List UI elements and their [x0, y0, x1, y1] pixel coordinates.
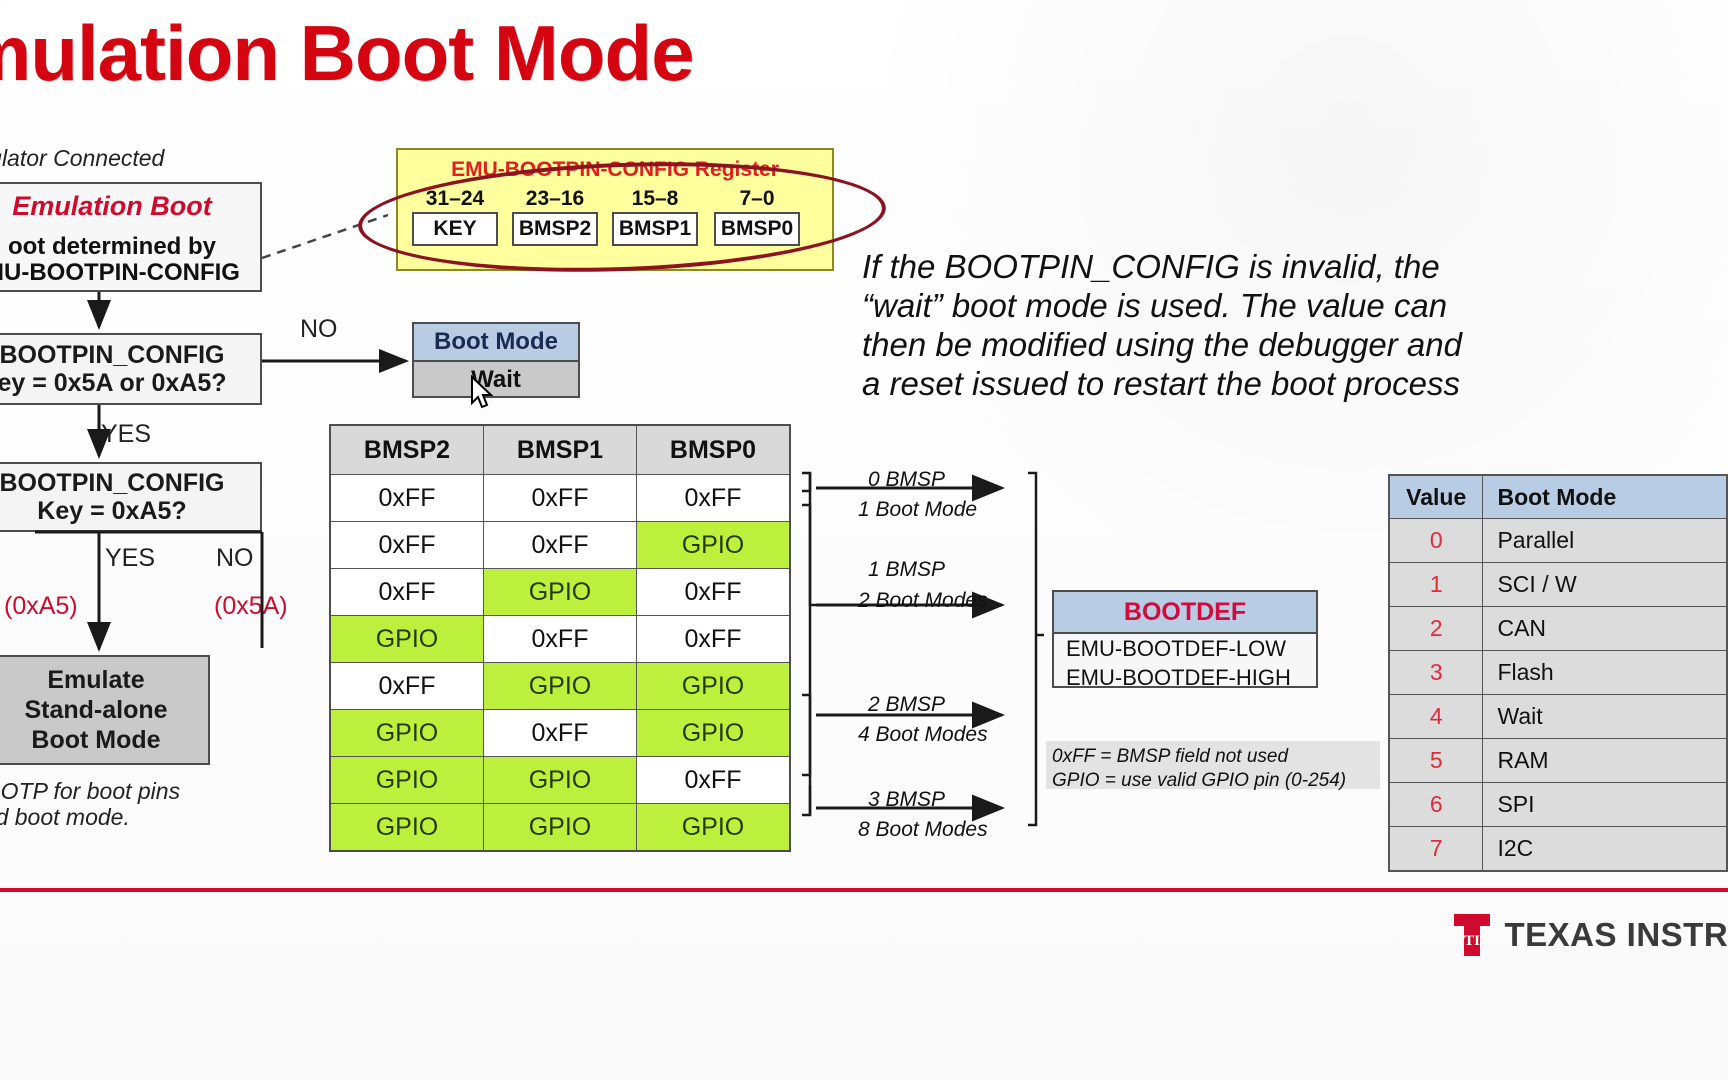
value-cell: 5	[1389, 739, 1483, 783]
bmsp-cell: GPIO	[330, 757, 484, 804]
bootdef-box: BOOTDEF EMU-BOOTDEF-LOW EMU-BOOTDEF-HIGH	[1052, 590, 1318, 688]
arrow-group-0-count: 0 BMSP	[868, 468, 945, 492]
value-cell: 1	[1389, 563, 1483, 607]
arrow-group-3-modes: 8 Boot Modes	[858, 818, 988, 842]
bmsp-cell: GPIO	[484, 757, 637, 804]
q1-line2: ey = 0x5A or 0xA5?	[0, 369, 227, 397]
otp-note: ds OTP for boot pins and boot mode.	[0, 778, 250, 830]
q2-line2: Key = 0xA5?	[37, 497, 186, 525]
bmsp-header-bmsp0: BMSP0	[637, 425, 791, 475]
table-row: 0xFF0xFFGPIO	[330, 522, 790, 569]
ti-mark-icon: TI	[1452, 912, 1492, 958]
boot-mode-cell: I2C	[1483, 827, 1727, 872]
emulation-boot-header: Emulation Boot	[0, 184, 260, 228]
register-bits-7-0: 7–0	[708, 187, 806, 211]
register-field-bmsp0: BMSP0	[714, 212, 800, 246]
emulation-boot-line1: oot determined by	[8, 234, 216, 260]
bootpin-key-a5-question-box: BOOTPIN_CONFIG Key = 0xA5?	[0, 462, 262, 532]
table-row: 7I2C	[1389, 827, 1727, 872]
hex-a5-label: (0xA5)	[4, 592, 78, 621]
table-row: 4Wait	[1389, 695, 1727, 739]
arrow-group-2-modes: 4 Boot Modes	[858, 723, 988, 747]
register-bits-23-16: 23–16	[506, 187, 604, 211]
value-cell: 4	[1389, 695, 1483, 739]
bmsp-cell: 0xFF	[637, 616, 791, 663]
bmsp-cell: 0xFF	[330, 569, 484, 616]
bmsp-header-bmsp2: BMSP2	[330, 425, 484, 475]
register-field-bmsp2: BMSP2	[512, 212, 598, 246]
table-row: GPIO0xFFGPIO	[330, 710, 790, 757]
wait-box-value: Wait	[414, 362, 578, 398]
q2-yes-label: YES	[105, 544, 155, 573]
bmsp-cell: GPIO	[484, 804, 637, 852]
table-row: 0xFFGPIO0xFF	[330, 569, 790, 616]
bmsp-cell: 0xFF	[637, 569, 791, 616]
bootpin-invalid-note: If the BOOTPIN_CONFIG is invalid, the “w…	[862, 248, 1622, 404]
mouse-cursor	[470, 376, 496, 410]
value-cell: 7	[1389, 827, 1483, 872]
bmsp-legend: 0xFF = BMSP field not used GPIO = use va…	[1046, 741, 1380, 789]
table-row: 3Flash	[1389, 651, 1727, 695]
boot-mode-cell: Parallel	[1483, 519, 1727, 563]
legend-line1: 0xFF = BMSP field not used	[1052, 745, 1374, 769]
bmsp-cell: GPIO	[484, 663, 637, 710]
bmsp-cell: 0xFF	[484, 616, 637, 663]
otp-note-line1: ds OTP for boot pins	[0, 778, 250, 804]
bmsp-cell: 0xFF	[484, 710, 637, 757]
table-row: 0xFF0xFF0xFF	[330, 475, 790, 522]
bmsp-cell: 0xFF	[484, 475, 637, 522]
register-bits-15-8: 15–8	[606, 187, 704, 211]
register-field-key: KEY	[412, 212, 498, 246]
emulate-line1: Emulate	[47, 665, 144, 695]
table-row: GPIOGPIOGPIO	[330, 804, 790, 852]
bmsp-cell: 0xFF	[637, 475, 791, 522]
boot-mode-value-table: Value Boot Mode 0Parallel1SCI / W2CAN3Fl…	[1388, 474, 1728, 872]
bmsp-combination-table: BMSP2 BMSP1 BMSP0 0xFF0xFF0xFF0xFF0xFFGP…	[329, 424, 791, 852]
wait-box-header: Boot Mode	[414, 324, 578, 362]
q1-line1: BOOTPIN_CONFIG	[0, 341, 225, 369]
emulation-boot-body: oot determined by MU-BOOTPIN-CONFIG	[0, 228, 260, 292]
table-row: 5RAM	[1389, 739, 1727, 783]
value-cell: 2	[1389, 607, 1483, 651]
arrow-group-3-count: 3 BMSP	[868, 788, 945, 812]
bmsp-cell: 0xFF	[330, 663, 484, 710]
emu-bootpin-config-register-panel: EMU-BOOTPIN-CONFIG Register 31–24 23–16 …	[396, 148, 834, 271]
arrow-group-1-modes: 2 Boot Modes	[858, 589, 988, 613]
table-row: 0xFFGPIOGPIO	[330, 663, 790, 710]
bmsp-cell: GPIO	[637, 804, 791, 852]
table-row: 1SCI / W	[1389, 563, 1727, 607]
table-row: GPIO0xFF0xFF	[330, 616, 790, 663]
legend-line2: GPIO = use valid GPIO pin (0-254)	[1052, 769, 1374, 793]
value-cell: 0	[1389, 519, 1483, 563]
ti-wordmark: TEXAS INSTRUMENT	[1504, 916, 1728, 954]
arrow-group-2-count: 2 BMSP	[868, 693, 945, 717]
emulate-line3: Boot Mode	[31, 725, 160, 755]
boot-mode-cell: SCI / W	[1483, 563, 1727, 607]
q2-line1: BOOTPIN_CONFIG	[0, 469, 225, 497]
q1-yes-label: YES	[101, 420, 151, 449]
bmsp-cell: 0xFF	[330, 475, 484, 522]
table-row: GPIOGPIO0xFF	[330, 757, 790, 804]
bootdef-title: BOOTDEF	[1054, 592, 1316, 634]
page-title: mulation Boot Mode	[0, 8, 694, 99]
boot-mode-cell: SPI	[1483, 783, 1727, 827]
arrow-group-1-count: 1 BMSP	[868, 558, 945, 582]
ti-logo: TI TEXAS INSTRUMENT	[1452, 912, 1728, 958]
boot-mode-cell: CAN	[1483, 607, 1727, 651]
register-bits-31-24: 31–24	[406, 187, 504, 211]
register-title: EMU-BOOTPIN-CONFIG Register	[398, 158, 832, 182]
boot-mode-wait-box: Boot Mode Wait	[412, 322, 580, 398]
emulate-standalone-box: Emulate Stand-alone Boot Mode	[0, 655, 210, 765]
register-field-bmsp1: BMSP1	[612, 212, 698, 246]
bmsp-cell: GPIO	[330, 804, 484, 852]
table-row: 6SPI	[1389, 783, 1727, 827]
bmsp-header-bmsp1: BMSP1	[484, 425, 637, 475]
boot-mode-cell: Flash	[1483, 651, 1727, 695]
bmsp-cell: GPIO	[330, 710, 484, 757]
slide-canvas: mulation Boot Mode mulator Connected Emu…	[0, 0, 1728, 1080]
arrow-group-0-modes: 1 Boot Mode	[858, 498, 977, 522]
bmsp-cell: GPIO	[637, 710, 791, 757]
q2-no-label: NO	[216, 544, 254, 573]
emulation-boot-line2: MU-BOOTPIN-CONFIG	[0, 260, 240, 286]
value-table-header-value: Value	[1389, 475, 1483, 519]
bmsp-cell: 0xFF	[484, 522, 637, 569]
boot-mode-cell: RAM	[1483, 739, 1727, 783]
table-row: 2CAN	[1389, 607, 1727, 651]
q1-no-label: NO	[300, 315, 338, 344]
value-cell: 3	[1389, 651, 1483, 695]
bmsp-cell: GPIO	[330, 616, 484, 663]
bmsp-cell: GPIO	[637, 522, 791, 569]
value-cell: 6	[1389, 783, 1483, 827]
bmsp-cell: GPIO	[637, 663, 791, 710]
emulation-boot-box: Emulation Boot oot determined by MU-BOOT…	[0, 182, 262, 292]
otp-note-line2: and boot mode.	[0, 804, 250, 830]
bmsp-table-header-row: BMSP2 BMSP1 BMSP0	[330, 425, 790, 475]
bootpin-key-question-box: BOOTPIN_CONFIG ey = 0x5A or 0xA5?	[0, 333, 262, 405]
footer-divider	[0, 888, 1728, 892]
bmsp-cell: GPIO	[484, 569, 637, 616]
table-row: 0Parallel	[1389, 519, 1727, 563]
bootdef-high-line: EMU-BOOTDEF-HIGH	[1054, 663, 1316, 692]
emulator-connected-label: mulator Connected	[0, 145, 250, 172]
hex-5a-label: (0x5A)	[214, 592, 288, 621]
bootdef-low-line: EMU-BOOTDEF-LOW	[1054, 634, 1316, 663]
value-table-header-row: Value Boot Mode	[1389, 475, 1727, 519]
value-table-header-bootmode: Boot Mode	[1483, 475, 1727, 519]
boot-mode-cell: Wait	[1483, 695, 1727, 739]
emulate-line2: Stand-alone	[24, 695, 167, 725]
bmsp-cell: 0xFF	[330, 522, 484, 569]
svg-text:TI: TI	[1465, 933, 1481, 949]
bmsp-cell: 0xFF	[637, 757, 791, 804]
